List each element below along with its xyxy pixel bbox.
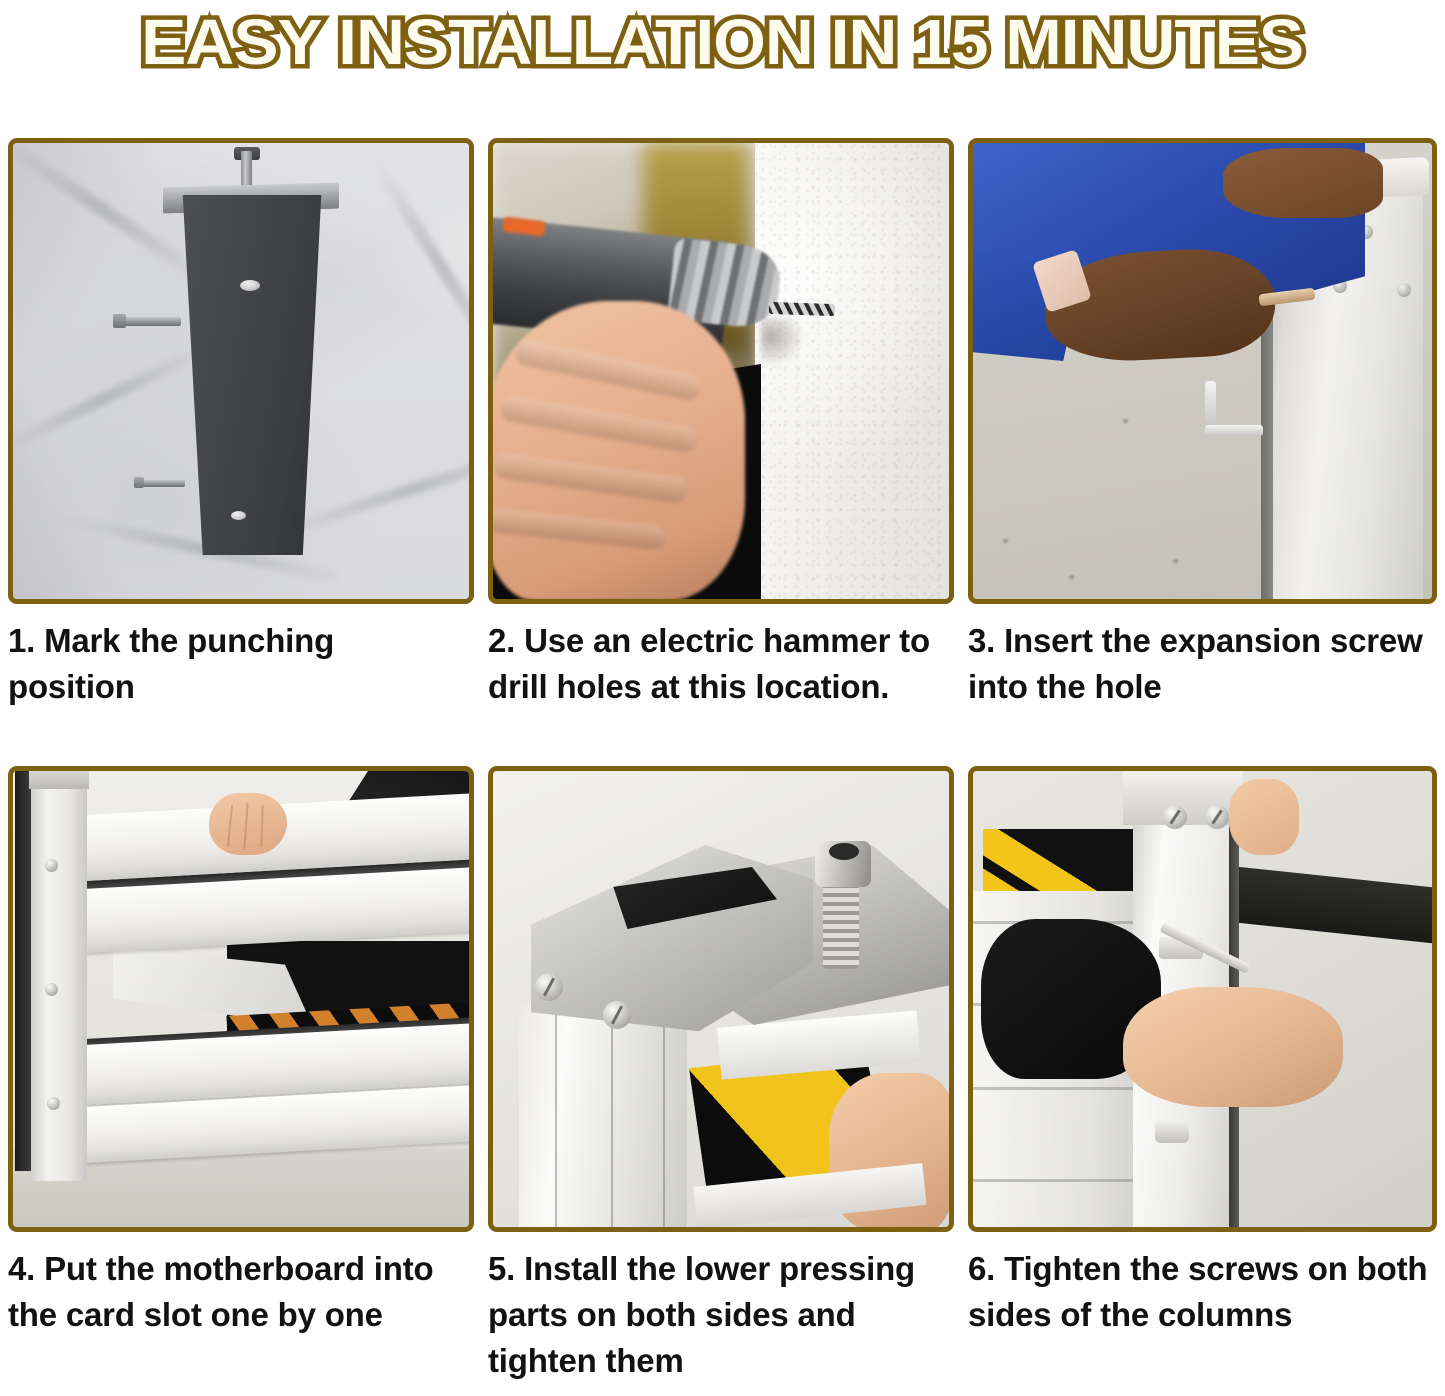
- step-photo-frame-3: [968, 138, 1437, 604]
- step-photo-2: [493, 143, 949, 599]
- step-card-2: 2. Use an electric hammer to drill holes…: [488, 138, 954, 766]
- page-title: EASY INSTALLATION IN 15 MINUTES: [142, 10, 1304, 74]
- step-caption-4: 4. Put the motherboard into the card slo…: [8, 1246, 474, 1386]
- steps-grid: 1. Mark the punching position: [8, 138, 1437, 1396]
- step-photo-frame-6: [968, 766, 1437, 1232]
- allen-key: [1205, 381, 1265, 443]
- step-card-1: 1. Mark the punching position: [8, 138, 474, 766]
- step-caption-6: 6. Tighten the screws on both sides of t…: [968, 1246, 1437, 1386]
- step-photo-frame-5: [488, 766, 954, 1232]
- step-photo-1: [13, 143, 469, 599]
- title-banner: EASY INSTALLATION IN 15 MINUTES: [0, 0, 1445, 84]
- step-photo-4: [13, 771, 469, 1227]
- step-photo-frame-4: [8, 766, 474, 1232]
- step-photo-6: [973, 771, 1432, 1227]
- step-photo-frame-1: [8, 138, 474, 604]
- step-caption-3: 3. Insert the expansion screw into the h…: [968, 618, 1437, 756]
- step-card-6: 6. Tighten the screws on both sides of t…: [968, 766, 1437, 1396]
- step-caption-1: 1. Mark the punching position: [8, 618, 474, 756]
- step-photo-frame-2: [488, 138, 954, 604]
- step-photo-5: [493, 771, 949, 1227]
- step-caption-2: 2. Use an electric hammer to drill holes…: [488, 618, 954, 756]
- step-card-5: 5. Install the lower pressing parts on b…: [488, 766, 954, 1396]
- step-caption-5: 5. Install the lower pressing parts on b…: [488, 1246, 954, 1386]
- step-card-4: 4. Put the motherboard into the card slo…: [8, 766, 474, 1396]
- step-card-3: 3. Insert the expansion screw into the h…: [968, 138, 1437, 766]
- installation-guide-page: EASY INSTALLATION IN 15 MINUTES: [0, 0, 1445, 1352]
- step-photo-3: [973, 143, 1432, 599]
